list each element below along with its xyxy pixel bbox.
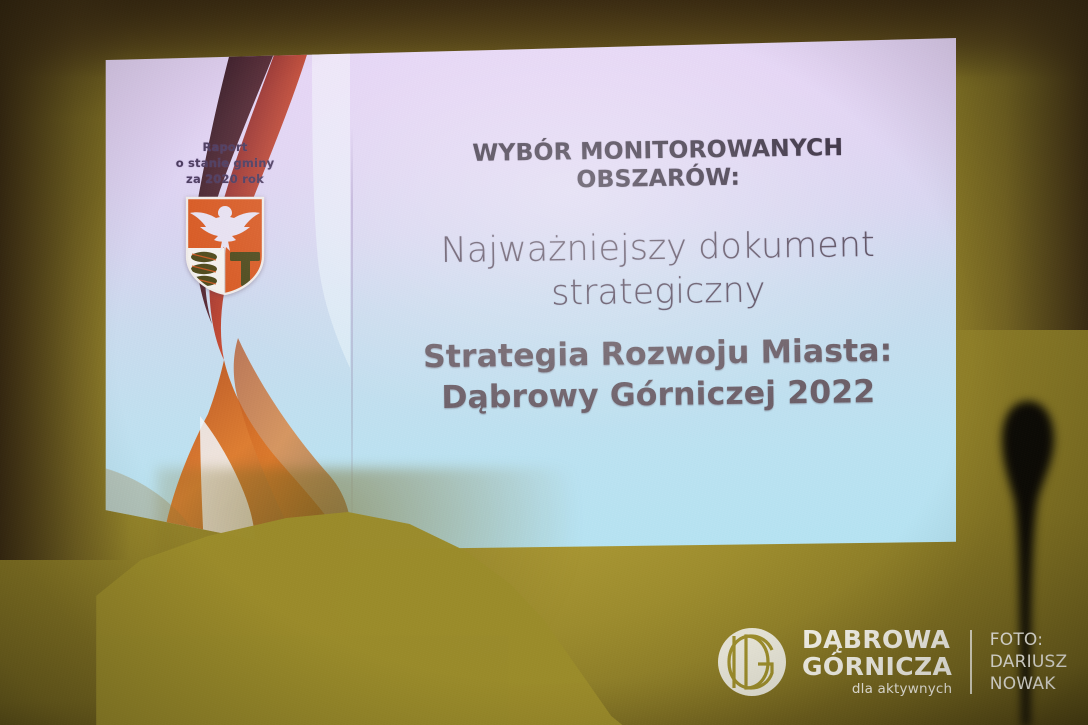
coat-of-arms-icon: [182, 194, 268, 298]
dg-circle-logo-icon: [716, 626, 788, 698]
watermark-tagline: dla aktywnych: [802, 683, 952, 697]
watermark-brand: DĄBROWA GÓRNICZA dla aktywnych: [802, 627, 952, 697]
watermark-brand-line-1: DĄBROWA: [802, 627, 952, 652]
photo-credit-line-2: DARIUSZ: [990, 651, 1068, 673]
report-crest-block: Raport o stanie gminy za 2020 rok: [156, 140, 294, 298]
report-caption-line-3: za 2020 rok: [156, 172, 294, 188]
photo-canvas: Raport o stanie gminy za 2020 rok: [0, 0, 1088, 725]
report-caption: Raport o stanie gminy za 2020 rok: [156, 140, 294, 188]
slide-subtitle-line-2: strategiczny: [380, 266, 937, 318]
slide-document-title-line-1: Strategia Rozwoju Miasta:: [423, 333, 893, 376]
slide-heading: WYBÓR MONITOROWANYCH OBSZARÓW:: [392, 132, 925, 196]
watermark: DĄBROWA GÓRNICZA dla aktywnych FOTO: DAR…: [716, 626, 1067, 698]
slide-document-title-line-2: Dąbrowy Górniczej 2022: [376, 371, 941, 420]
watermark-brand-line-2: GÓRNICZA: [802, 654, 952, 679]
slide-subtitle-line-1: Najważniejszy dokument: [440, 225, 874, 271]
wall-right-shadow: [938, 0, 1088, 330]
watermark-divider: [970, 630, 972, 694]
report-caption-line-2: o stanie gminy: [156, 156, 294, 172]
photo-credit-line-1: FOTO:: [990, 629, 1068, 651]
slide-subtitle: Najważniejszy dokument strategiczny: [379, 222, 936, 318]
report-caption-line-1: Raport: [156, 140, 294, 156]
photo-credit: FOTO: DARIUSZ NOWAK: [990, 629, 1068, 695]
slide-document-title: Strategia Rozwoju Miasta: Dąbrowy Górnic…: [375, 330, 940, 420]
photo-credit-line-3: NOWAK: [990, 673, 1068, 695]
